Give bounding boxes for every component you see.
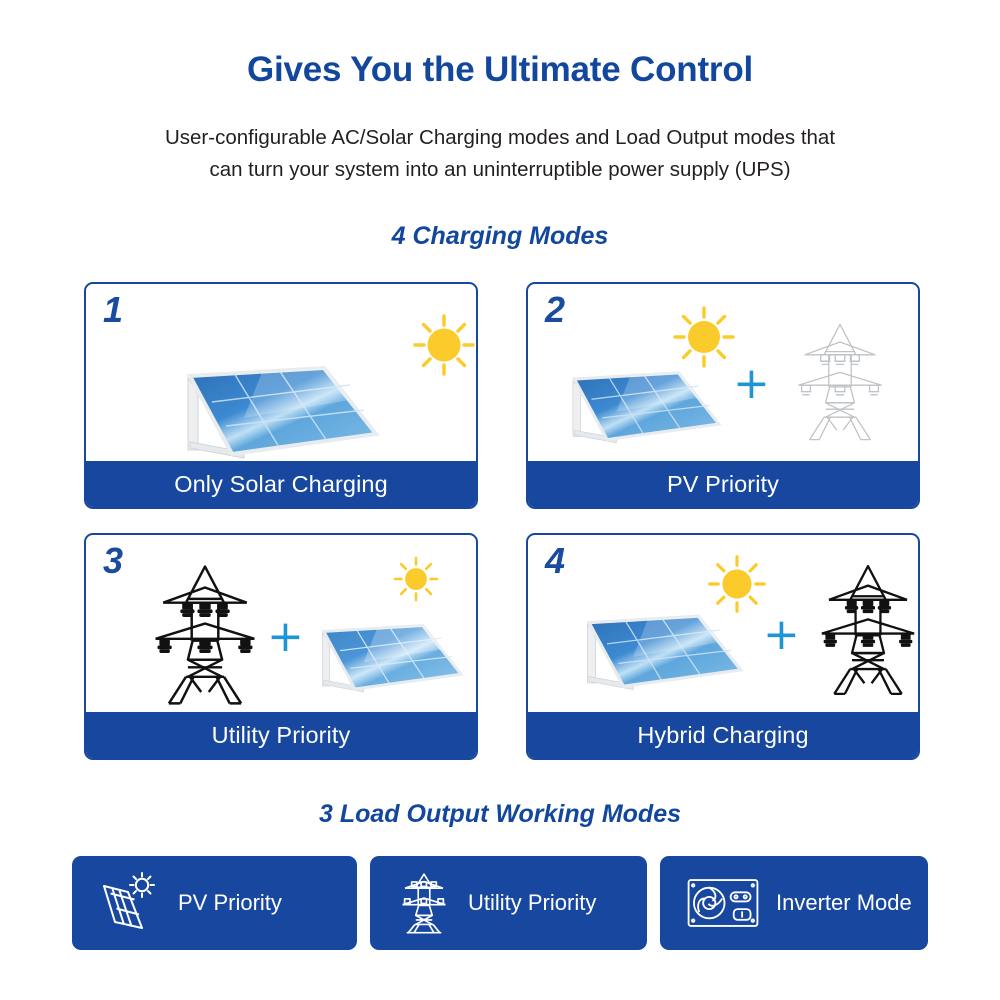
charging-mode-card-3[interactable]: 3 bbox=[84, 533, 478, 760]
subtitle-line-1: User-configurable AC/Solar Charging mode… bbox=[70, 122, 930, 154]
charging-modes-heading: 4 Charging Modes bbox=[0, 222, 1000, 251]
page-title: Gives You the Ultimate Control bbox=[0, 50, 1000, 90]
card-label-2: PV Priority bbox=[528, 461, 918, 507]
charging-mode-card-2[interactable]: 2 bbox=[526, 282, 920, 509]
sun-icon bbox=[411, 312, 477, 383]
transmission-tower-icon-black bbox=[146, 559, 264, 716]
load-mode-bar-inverter-mode[interactable]: Inverter Mode bbox=[660, 856, 928, 950]
load-mode-label-pv-priority: PV Priority bbox=[178, 890, 282, 916]
sun-icon bbox=[671, 304, 737, 375]
solar-panel-icon bbox=[312, 621, 464, 700]
card-stage-1 bbox=[86, 284, 476, 461]
transmission-tower-icon-black bbox=[813, 559, 920, 706]
card-label-3: Utility Priority bbox=[86, 712, 476, 758]
load-mode-label-inverter-mode: Inverter Mode bbox=[776, 890, 912, 916]
sun-icon bbox=[706, 553, 768, 620]
card-stage-3: + bbox=[86, 535, 476, 712]
sun-icon bbox=[392, 555, 440, 608]
plus-icon: + bbox=[267, 615, 304, 659]
solar-panel-icon bbox=[576, 611, 744, 698]
charging-mode-card-4[interactable]: 4 bbox=[526, 533, 920, 760]
charging-modes-grid: 1 bbox=[84, 282, 920, 760]
page-subtitle: User-configurable AC/Solar Charging mode… bbox=[70, 122, 930, 186]
load-mode-bar-utility-priority[interactable]: Utility Priority bbox=[370, 856, 647, 950]
load-mode-label-utility-priority: Utility Priority bbox=[468, 890, 596, 916]
transmission-tower-outline-icon bbox=[396, 870, 452, 936]
transmission-tower-icon-gray bbox=[790, 318, 890, 451]
plus-icon: + bbox=[733, 362, 770, 406]
card-label-4: Hybrid Charging bbox=[528, 712, 918, 758]
solar-panel-outline-icon bbox=[98, 872, 162, 934]
card-label-1: Only Solar Charging bbox=[86, 461, 476, 507]
subtitle-line-2: can turn your system into an uninterrupt… bbox=[70, 154, 930, 186]
load-output-modes-row: PV Priority bbox=[72, 856, 928, 950]
load-output-heading: 3 Load Output Working Modes bbox=[0, 800, 1000, 829]
charging-mode-card-1[interactable]: 1 bbox=[84, 282, 478, 509]
card-stage-4: + bbox=[528, 535, 918, 712]
inverter-outline-icon bbox=[686, 877, 760, 929]
solar-panel-icon bbox=[174, 362, 380, 467]
card-stage-2: + bbox=[528, 284, 918, 461]
solar-panel-icon bbox=[562, 368, 722, 451]
load-mode-bar-pv-priority[interactable]: PV Priority bbox=[72, 856, 357, 950]
plus-icon: + bbox=[763, 613, 800, 657]
